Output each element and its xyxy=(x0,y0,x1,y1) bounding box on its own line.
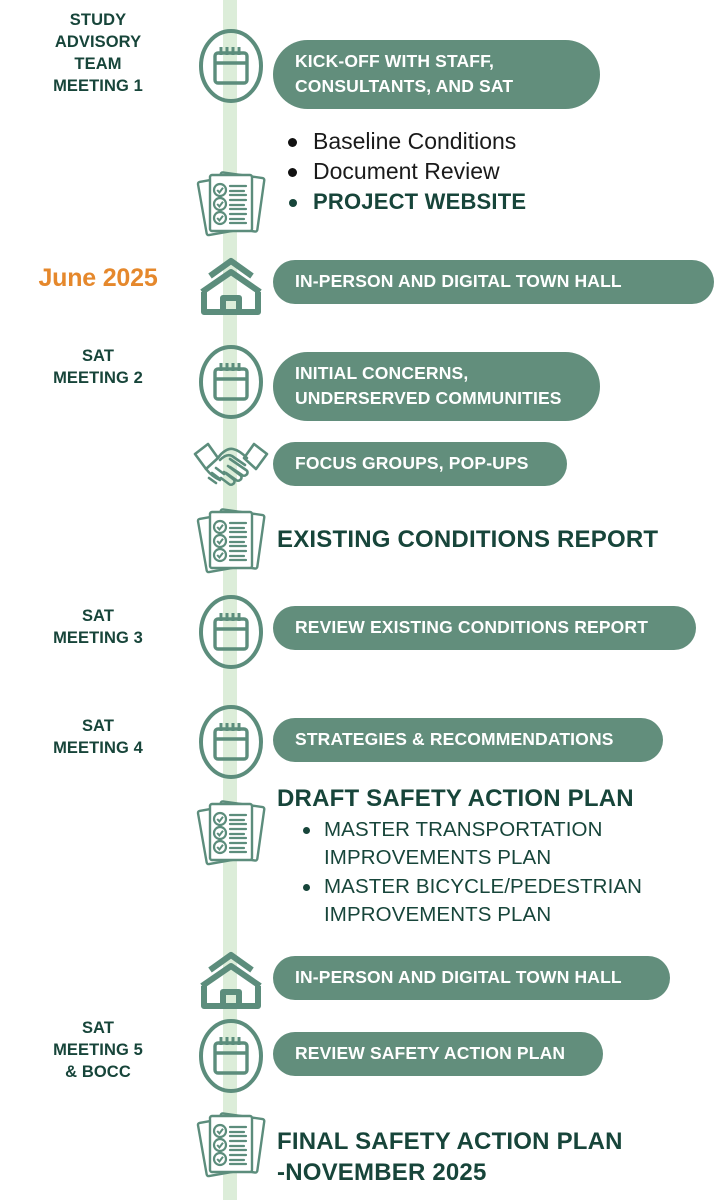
timeline-row-town-hall-second: IN-PERSON AND DIGITAL TOWN HALL xyxy=(0,944,722,1014)
label-line: & BOCC xyxy=(0,1062,196,1084)
pill-line: KICK-OFF WITH STAFF, xyxy=(295,49,513,74)
timeline-row-existing-conditions-report: EXISTING CONDITIONS REPORT xyxy=(0,500,722,582)
milestone-date-june-2025: June 2025 xyxy=(0,262,196,295)
heading-line: -NOVEMBER 2025 xyxy=(277,1157,623,1188)
milestone-pill-focus-groups[interactable]: FOCUS GROUPS, POP-UPS xyxy=(273,442,567,486)
milestone-pill-town-hall-second[interactable]: IN-PERSON AND DIGITAL TOWN HALL xyxy=(273,956,670,1000)
calendar-icon xyxy=(188,342,273,422)
timeline-row-town-hall-june: June 2025 IN-PERSON AND DIGITAL TOWN HAL… xyxy=(0,248,722,320)
label-line: ADVISORY xyxy=(0,32,196,54)
timeline-row-sat-meeting-3: SAT MEETING 3 REVIEW EXISTING CONDITIONS… xyxy=(0,592,722,672)
timeline-row-focus-groups: FOCUS GROUPS, POP-UPS xyxy=(0,432,722,494)
milestone-label-sat-meeting-1: STUDY ADVISORY TEAM MEETING 1 xyxy=(0,10,196,98)
checklist-document-icon xyxy=(188,502,273,580)
list-item-line: IMPROVEMENTS PLAN xyxy=(324,901,642,929)
milestone-label-sat-meeting-4: SAT MEETING 4 xyxy=(0,716,196,760)
milestone-pill-strategies-recommendations[interactable]: STRATEGIES & RECOMMENDATIONS xyxy=(273,718,663,762)
deliverable-heading-draft-safety-plan: DRAFT SAFETY ACTION PLAN xyxy=(277,783,634,814)
milestone-label-sat-meeting-5: SAT MEETING 5 & BOCC xyxy=(0,1018,196,1084)
project-timeline-infographic: STUDY ADVISORY TEAM MEETING 1 KICK-OFF W… xyxy=(0,0,722,1200)
timeline-row-draft-safety-action-plan: DRAFT SAFETY ACTION PLAN MASTER TRANSPOR… xyxy=(0,782,722,942)
town-hall-icon xyxy=(188,944,273,1014)
timeline-row-sat-meeting-5: SAT MEETING 5 & BOCC REVIEW SAFETY ACTIO… xyxy=(0,1016,722,1098)
checklist-document-icon xyxy=(188,794,273,872)
label-line: STUDY xyxy=(0,10,196,32)
timeline-row-sat-meeting-2: SAT MEETING 2 INITIAL CONCERNS, UNDERSER… xyxy=(0,338,722,428)
list-item-line: MASTER BICYCLE/PEDESTRIAN xyxy=(324,875,642,898)
pill-line: IN-PERSON AND DIGITAL TOWN HALL xyxy=(295,965,622,990)
draft-plan-bullet-list: MASTER TRANSPORTATION IMPROVEMENTS PLAN … xyxy=(290,816,642,929)
milestone-pill-review-existing-conditions[interactable]: REVIEW EXISTING CONDITIONS REPORT xyxy=(273,606,696,650)
pill-line: STRATEGIES & RECOMMENDATIONS xyxy=(295,727,614,752)
timeline-row-sat-meeting-1: STUDY ADVISORY TEAM MEETING 1 KICK-OFF W… xyxy=(0,0,722,118)
pill-line: CONSULTANTS, AND SAT xyxy=(295,74,513,99)
milestone-label-sat-meeting-3: SAT MEETING 3 xyxy=(0,606,196,650)
label-line: MEETING 5 xyxy=(0,1040,196,1062)
pill-line: REVIEW SAFETY ACTION PLAN xyxy=(295,1041,565,1066)
date-line: June 2025 xyxy=(0,262,196,295)
town-hall-icon xyxy=(188,250,273,320)
heading-line: FINAL SAFETY ACTION PLAN xyxy=(277,1126,623,1157)
list-item: Baseline Conditions xyxy=(313,126,526,156)
checklist-document-icon xyxy=(188,1106,273,1184)
milestone-pill-kickoff[interactable]: KICK-OFF WITH STAFF, CONSULTANTS, AND SA… xyxy=(273,40,600,109)
milestone-label-sat-meeting-2: SAT MEETING 2 xyxy=(0,346,196,390)
pill-line: REVIEW EXISTING CONDITIONS REPORT xyxy=(295,615,648,640)
calendar-icon xyxy=(188,702,273,782)
list-item-line: MASTER TRANSPORTATION xyxy=(324,818,603,841)
label-line: MEETING 1 xyxy=(0,76,196,98)
pill-line: IN-PERSON AND DIGITAL TOWN HALL xyxy=(295,269,622,294)
pill-line: FOCUS GROUPS, POP-UPS xyxy=(295,451,529,476)
list-item: Document Review xyxy=(313,156,526,186)
label-line: SAT xyxy=(0,1018,196,1040)
label-line: MEETING 3 xyxy=(0,628,196,650)
list-item-line: IMPROVEMENTS PLAN xyxy=(324,844,642,872)
label-line: TEAM xyxy=(0,54,196,76)
list-item: MASTER TRANSPORTATION IMPROVEMENTS PLAN xyxy=(324,816,642,873)
timeline-row-baseline-deliverables: Baseline Conditions Document Review PROJ… xyxy=(0,120,722,235)
list-item: MASTER BICYCLE/PEDESTRIAN IMPROVEMENTS P… xyxy=(324,873,642,930)
label-line: MEETING 2 xyxy=(0,368,196,390)
deliverable-bullet-list: Baseline Conditions Document Review PROJ… xyxy=(277,126,526,216)
deliverable-heading-existing-conditions: EXISTING CONDITIONS REPORT xyxy=(277,524,658,555)
pill-line: UNDERSERVED COMMUNITIES xyxy=(295,386,562,411)
timeline-row-final-safety-action-plan: FINAL SAFETY ACTION PLAN -NOVEMBER 2025 xyxy=(0,1098,722,1200)
label-line: MEETING 4 xyxy=(0,738,196,760)
timeline-row-sat-meeting-4: SAT MEETING 4 STRATEGIES & RECOMMENDATIO… xyxy=(0,702,722,782)
handshake-icon xyxy=(188,432,273,494)
milestone-pill-initial-concerns[interactable]: INITIAL CONCERNS, UNDERSERVED COMMUNITIE… xyxy=(273,352,600,421)
calendar-icon xyxy=(188,1016,273,1096)
deliverable-heading-final-safety-plan: FINAL SAFETY ACTION PLAN -NOVEMBER 2025 xyxy=(277,1126,623,1188)
checklist-document-icon xyxy=(188,165,273,243)
label-line: SAT xyxy=(0,346,196,368)
milestone-pill-review-safety-plan[interactable]: REVIEW SAFETY ACTION PLAN xyxy=(273,1032,603,1076)
milestone-pill-town-hall-june[interactable]: IN-PERSON AND DIGITAL TOWN HALL xyxy=(273,260,714,304)
calendar-icon xyxy=(188,26,273,106)
label-line: SAT xyxy=(0,606,196,628)
label-line: SAT xyxy=(0,716,196,738)
list-item-project-website: PROJECT WEBSITE xyxy=(313,187,526,216)
pill-line: INITIAL CONCERNS, xyxy=(295,361,562,386)
calendar-icon xyxy=(188,592,273,672)
